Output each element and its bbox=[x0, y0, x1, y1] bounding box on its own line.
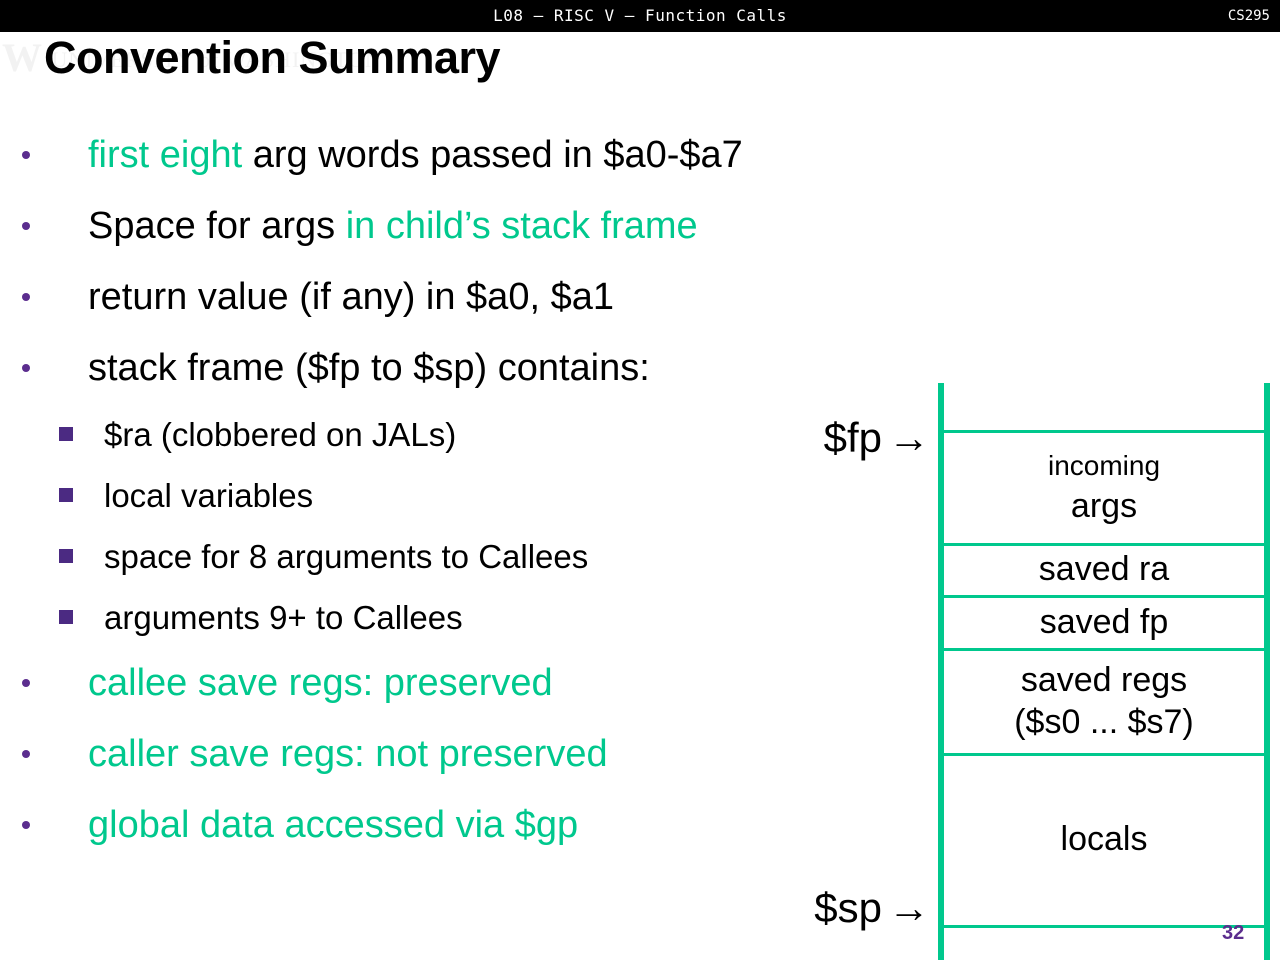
bullet-dot-icon bbox=[22, 222, 30, 230]
bullet-item: global data accessed via $gp bbox=[0, 790, 930, 861]
bullet-text-segment: Space for args bbox=[88, 205, 346, 247]
frame-cell: saved ra bbox=[944, 543, 1264, 595]
bullet-list: first eight arg words passed in $a0-$a7S… bbox=[0, 120, 930, 861]
bullet-square-icon bbox=[59, 488, 73, 502]
bullet-text-segment: callee save regs: preserved bbox=[88, 662, 553, 704]
sp-pointer-text: $sp bbox=[814, 884, 882, 931]
bullet-text-segment: arguments 9+ to Callees bbox=[104, 599, 463, 636]
bullet-dot-icon bbox=[22, 364, 30, 372]
sp-pointer-label: $sp→ bbox=[790, 884, 930, 932]
frame-cell-line: ($s0 ... $s7) bbox=[1014, 701, 1194, 743]
bullet-dot-icon bbox=[22, 750, 30, 758]
frame-cell: saved regs($s0 ... $s7) bbox=[944, 648, 1264, 753]
bullet-square-icon bbox=[59, 427, 73, 441]
bullet-text-segment: in child’s stack frame bbox=[346, 205, 698, 247]
bullet-item: callee save regs: preserved bbox=[0, 648, 930, 719]
frame-cell-line: saved regs bbox=[1021, 659, 1187, 701]
bullet-square-icon bbox=[59, 549, 73, 563]
page-title: Convention Summary bbox=[44, 32, 500, 84]
bullet-text-segment: return value (if any) in $a0, $a1 bbox=[88, 276, 614, 318]
bullet-square-icon bbox=[59, 610, 73, 624]
frame-divider bbox=[938, 925, 1270, 928]
sub-bullet-item: local variables bbox=[0, 465, 930, 526]
bullet-text-segment: space for 8 arguments to Callees bbox=[104, 538, 588, 575]
frame-cell-line: locals bbox=[1061, 818, 1148, 860]
fp-pointer-text: $fp bbox=[824, 414, 882, 461]
bullet-dot-icon bbox=[22, 151, 30, 159]
bullet-dot-icon bbox=[22, 293, 30, 301]
arrow-right-icon: → bbox=[882, 414, 930, 461]
arrow-right-icon: → bbox=[882, 884, 930, 931]
bullet-text-segment: caller save regs: not preserved bbox=[88, 733, 608, 775]
frame-cell: incomingargs bbox=[944, 430, 1264, 543]
bullet-text-segment: local variables bbox=[104, 477, 313, 514]
bullet-dot-icon bbox=[22, 821, 30, 829]
lecture-title: L08 – RISC V – Function Calls bbox=[0, 0, 1280, 32]
frame-right-border bbox=[1264, 383, 1270, 960]
bullet-item: caller save regs: not preserved bbox=[0, 719, 930, 790]
frame-cell-line: saved ra bbox=[1039, 548, 1169, 590]
bullet-dot-icon bbox=[22, 679, 30, 687]
frame-cell-line: saved fp bbox=[1040, 601, 1169, 643]
bullet-item: return value (if any) in $a0, $a1 bbox=[0, 262, 930, 333]
slide-canvas: L08 – RISC V – Function Calls CS295 W UN… bbox=[0, 0, 1280, 960]
fp-pointer-label: $fp→ bbox=[790, 414, 930, 462]
frame-cell-line: incoming bbox=[1048, 447, 1160, 485]
stack-frame-diagram: incomingargssaved rasaved fpsaved regs($… bbox=[938, 383, 1270, 960]
bullet-item: Space for args in child’s stack frame bbox=[0, 191, 930, 262]
sub-bullet-item: space for 8 arguments to Callees bbox=[0, 526, 930, 587]
bullet-text-segment: global data accessed via $gp bbox=[88, 804, 578, 846]
bullet-text-segment: $ra (clobbered on JALs) bbox=[104, 416, 456, 453]
bullet-text-segment: first eight bbox=[88, 134, 253, 176]
frame-cell-line: args bbox=[1071, 485, 1137, 527]
sub-bullet-item: arguments 9+ to Callees bbox=[0, 587, 930, 648]
bullet-text-segment: arg words passed in $a0-$a7 bbox=[253, 134, 743, 176]
frame-cell: saved fp bbox=[944, 595, 1264, 648]
bullet-item: stack frame ($fp to $sp) contains: bbox=[0, 333, 930, 404]
course-code: CS295 bbox=[1228, 0, 1270, 32]
slide-number: 32 bbox=[1222, 922, 1244, 945]
bullet-item: first eight arg words passed in $a0-$a7 bbox=[0, 120, 930, 191]
bullet-text-segment: stack frame ($fp to $sp) contains: bbox=[88, 347, 650, 389]
frame-cell: locals bbox=[944, 753, 1264, 925]
watermark-w-mark: W bbox=[2, 35, 43, 80]
